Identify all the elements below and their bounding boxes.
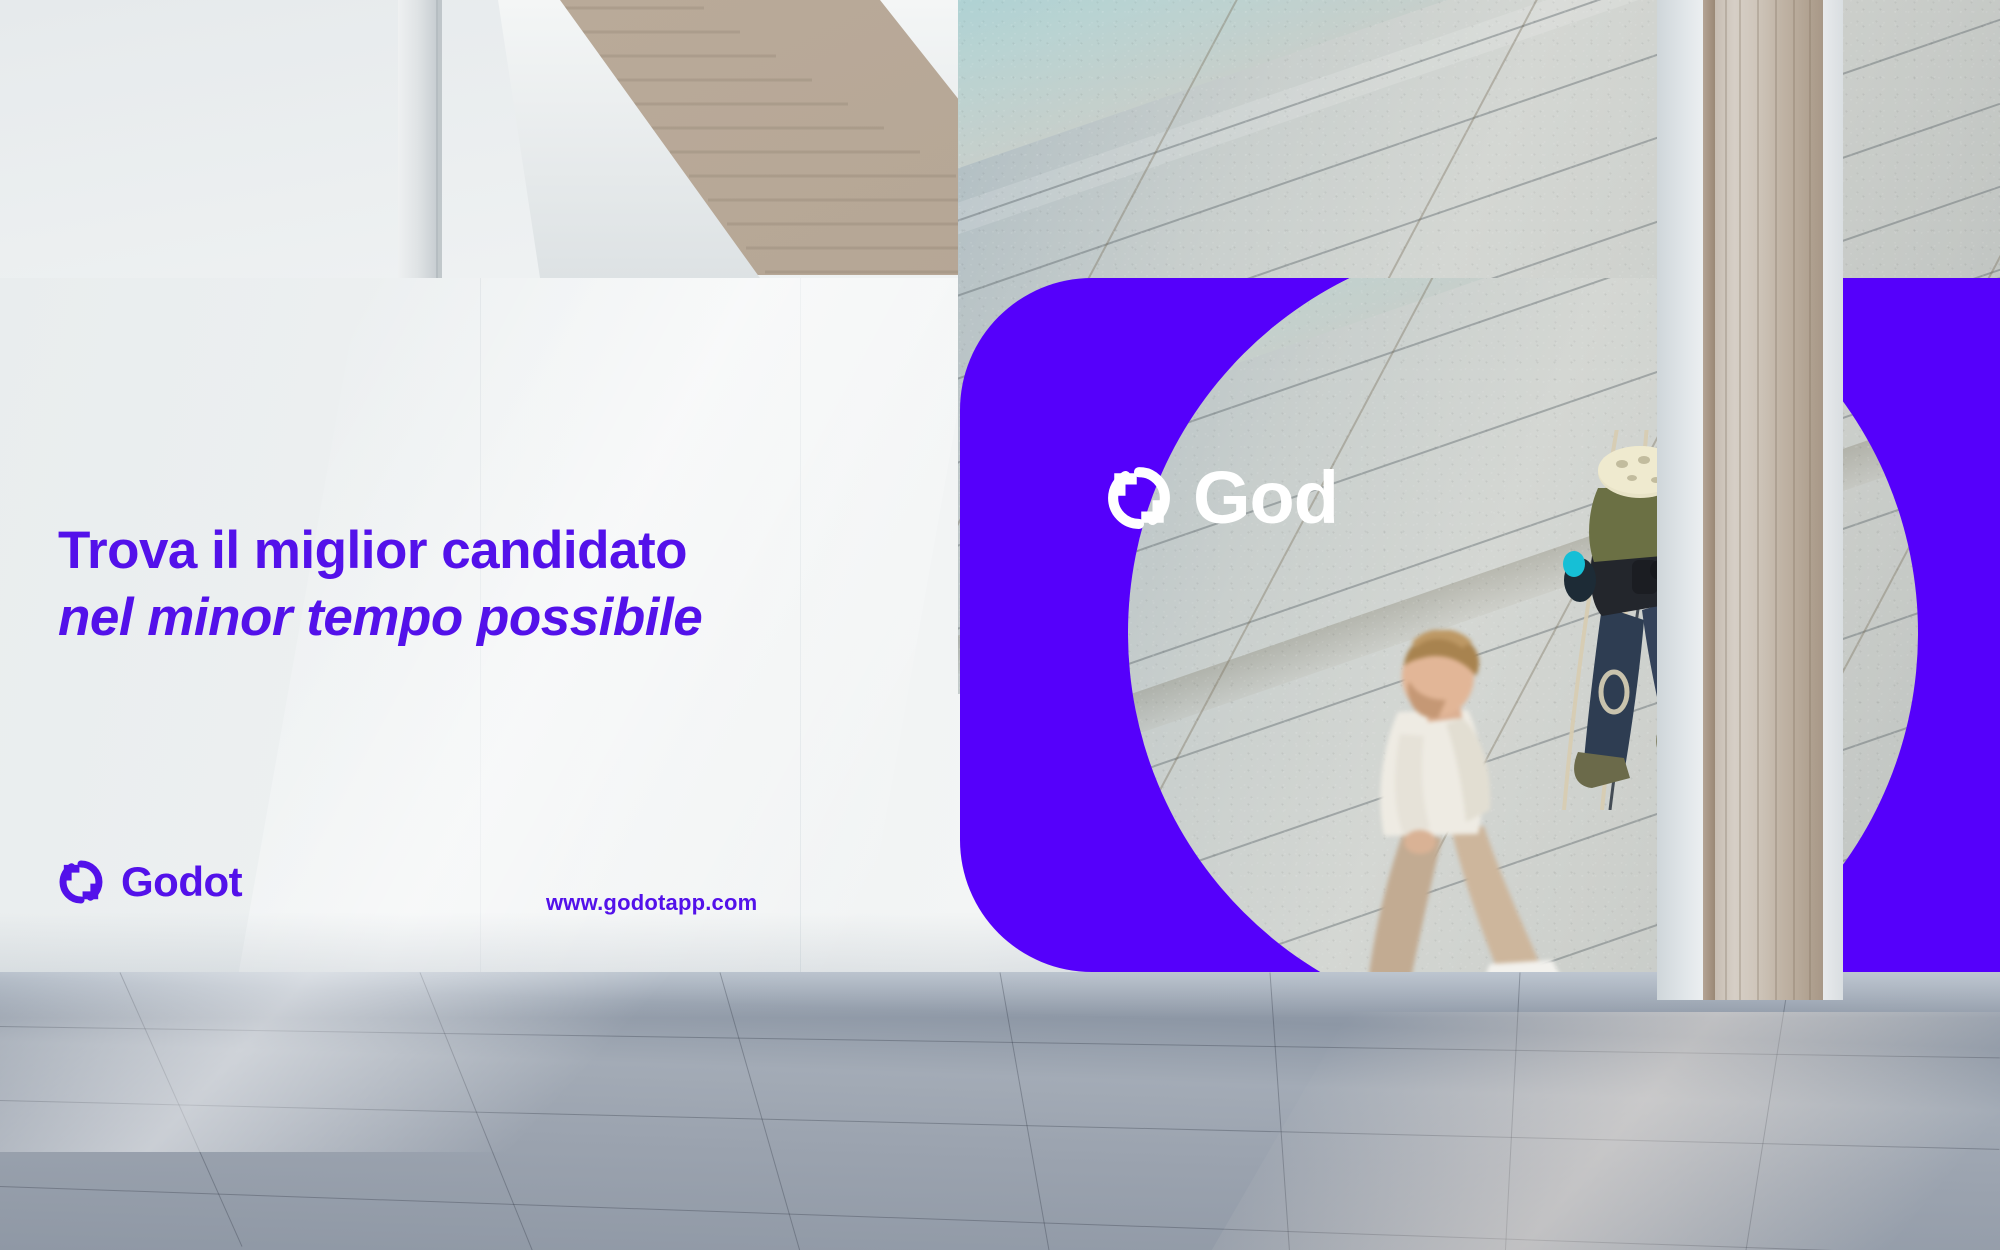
headline-line-2: nel minor tempo possibile — [58, 587, 702, 650]
plaza-floor — [0, 972, 2000, 1250]
website-url: www.godotapp.com — [546, 890, 757, 916]
blurred-pedestrian — [1312, 630, 1602, 1030]
brand-wordmark: Godot — [121, 858, 242, 906]
sync-arrows-icon — [56, 857, 106, 907]
sync-arrows-icon — [1103, 462, 1175, 534]
foreground-column — [1657, 0, 1843, 1000]
brand-logo: Godot — [56, 857, 242, 907]
billboard-headline: Trova il miglior candidato nel minor tem… — [58, 520, 702, 649]
headline-line-1: Trova il miglior candidato — [58, 520, 702, 583]
overlay-brand-logo: God — [1103, 455, 1338, 540]
billboard-scene: Trova il miglior candidato nel minor tem… — [0, 0, 2000, 1250]
overlay-brand-wordmark: God — [1193, 455, 1338, 540]
